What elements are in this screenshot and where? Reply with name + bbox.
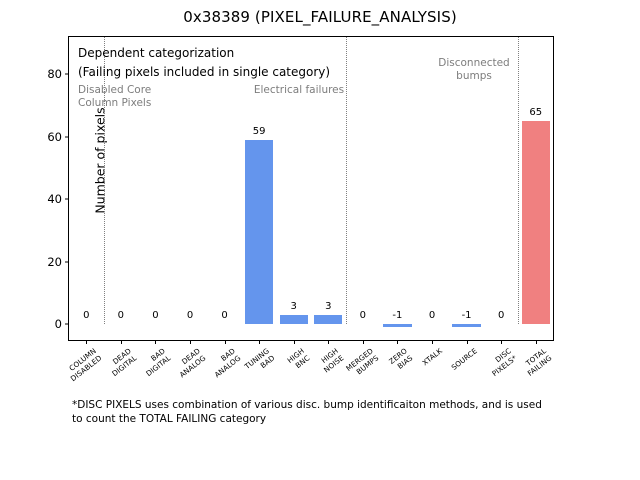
x-tick-mark xyxy=(501,340,502,344)
x-tick-mark xyxy=(328,340,329,344)
x-tick-mark xyxy=(397,340,398,344)
x-tick-label: COLUMNDISABLED xyxy=(64,347,104,383)
x-tick-label: TUNINGBAD xyxy=(244,347,277,378)
x-tick-label: HIGHNOISE xyxy=(317,347,346,375)
bar xyxy=(522,121,550,324)
bar-value-label: -1 xyxy=(462,310,472,321)
x-tick-mark xyxy=(121,340,122,344)
x-tick-label: BADDIGITAL xyxy=(140,347,173,378)
chart-figure: 0x38389 (PIXEL_FAILURE_ANALYSIS) Number … xyxy=(0,0,640,480)
y-tick-mark xyxy=(65,199,69,200)
bar xyxy=(245,140,273,324)
bar xyxy=(314,315,342,324)
x-tick-mark xyxy=(363,340,364,344)
plot-area: Number of pixels 020406080 COLUMNDISABLE… xyxy=(68,36,554,341)
y-tick-mark xyxy=(65,261,69,262)
x-tick-mark xyxy=(294,340,295,344)
annotation-failing-pixels-note: (Failing pixels included in single categ… xyxy=(78,64,330,81)
bar-value-label: 0 xyxy=(152,310,158,321)
bar-value-label: 0 xyxy=(429,310,435,321)
x-tick-label: MERGEDBUMPS xyxy=(345,347,381,380)
x-tick-mark xyxy=(225,340,226,344)
x-tick-label: XTALK xyxy=(421,347,444,368)
annotation-disconnected-bumps: Disconnected bumps xyxy=(409,57,539,82)
annotation-dependent-categorization: Dependent categorization xyxy=(78,45,234,62)
footnote-text: *DISC PIXELS uses combination of various… xyxy=(72,398,592,426)
bar-value-label: 0 xyxy=(360,310,366,321)
bar-value-label: 0 xyxy=(498,310,504,321)
x-tick-mark xyxy=(259,340,260,344)
y-tick-mark xyxy=(65,136,69,137)
bar-value-label: 0 xyxy=(118,310,124,321)
x-tick-label: SOURCE xyxy=(450,347,479,372)
y-tick-mark xyxy=(65,324,69,325)
bar-value-label: 0 xyxy=(83,310,89,321)
bar-value-label: 59 xyxy=(253,126,266,137)
page-title: 0x38389 (PIXEL_FAILURE_ANALYSIS) xyxy=(0,8,640,26)
bar xyxy=(280,315,308,324)
annotation-disabled-core-column-pixels: Disabled Core Column Pixels xyxy=(78,84,151,109)
x-tick-mark xyxy=(536,340,537,344)
x-tick-label: DEADDIGITAL xyxy=(105,347,138,378)
bar xyxy=(383,324,411,327)
category-divider xyxy=(346,37,347,324)
x-tick-label: BADANALOG xyxy=(207,347,242,380)
x-tick-label: DISCPIXELS* xyxy=(485,347,518,378)
bar-value-label: 3 xyxy=(291,301,297,312)
x-tick-label: ZEROBIAS xyxy=(388,347,415,373)
bar xyxy=(452,324,480,327)
x-tick-mark xyxy=(86,340,87,344)
bar-value-label: 0 xyxy=(187,310,193,321)
y-tick-mark xyxy=(65,74,69,75)
x-tick-mark xyxy=(190,340,191,344)
x-tick-mark xyxy=(467,340,468,344)
bar-value-label: 3 xyxy=(325,301,331,312)
x-tick-mark xyxy=(155,340,156,344)
bar-value-label: 0 xyxy=(221,310,227,321)
x-tick-mark xyxy=(432,340,433,344)
x-tick-label: TOTALFAILING xyxy=(520,347,553,378)
x-tick-label: DEADANALOG xyxy=(173,347,208,380)
bar-value-label: -1 xyxy=(392,310,402,321)
bar-value-label: 65 xyxy=(529,107,542,118)
annotation-electrical-failures: Electrical failures xyxy=(219,84,379,97)
x-tick-label: HIGHBNC xyxy=(286,347,311,372)
